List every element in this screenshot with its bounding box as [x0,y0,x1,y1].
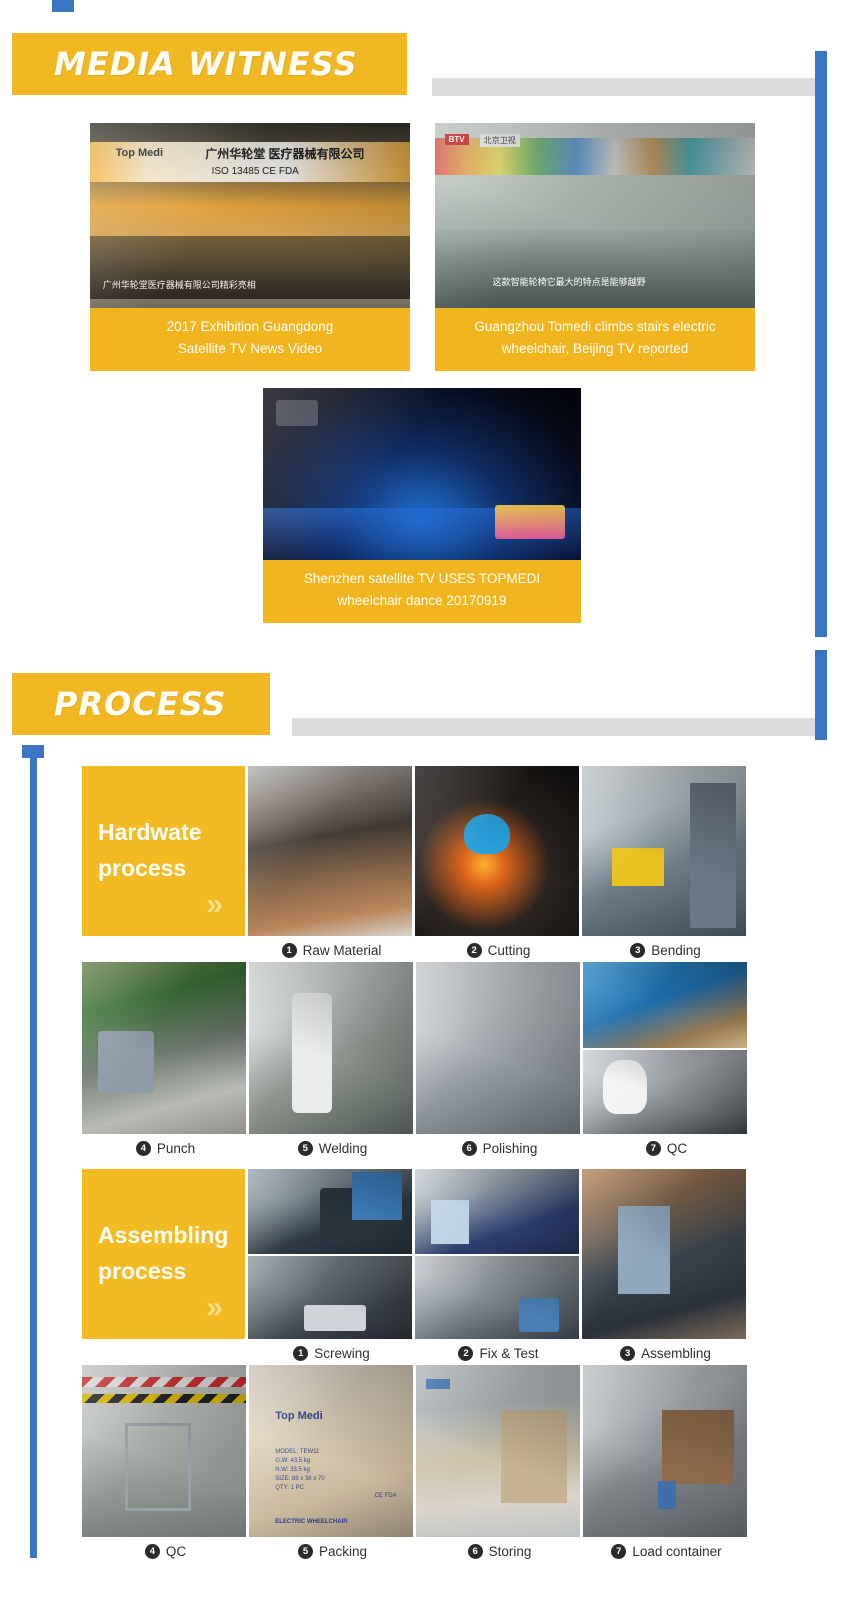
header-grey-bar [292,718,822,736]
process-photo[interactable] [582,766,746,936]
hardware-caption-row-2: 4 Punch 5 Welding 6 Polishing 7 QC [82,1136,750,1156]
process-step-caption: 3 Bending [582,938,749,958]
process-step-caption: 5 Welding [249,1136,416,1156]
process-photo-stack [583,962,747,1134]
hardware-title-line2: process [98,851,245,887]
media-caption: Shenzhen satellite TV USES TOPMEDI wheel… [263,560,581,623]
assembling-caption-row-1: 1 Screwing 2 Fix & Test 3 Assembling [82,1341,750,1361]
media-caption-line2: Satellite TV News Video [96,338,404,360]
channel-name-label: 北京卫视 [480,134,520,147]
step-label: Assembling [641,1346,711,1361]
media-caption-line1: Shenzhen satellite TV USES TOPMEDI [269,568,575,590]
process-photo[interactable] [248,1256,412,1339]
step-label: Bending [651,943,701,958]
process-photo[interactable] [415,1169,579,1254]
process-photo[interactable] [82,962,246,1134]
step-number: 2 [467,943,482,958]
media-witness-header: MEDIA WITNESS [0,28,853,98]
media-caption-line2: wheelchair dance 20170919 [269,590,575,612]
step-label: Cutting [488,943,531,958]
process-step-caption: 3 Assembling [582,1341,749,1361]
step-label: Storing [489,1544,532,1559]
process-left-rail [30,758,37,1558]
process-photo[interactable] [415,1256,579,1339]
step-label: Fix & Test [479,1346,538,1361]
hardware-caption-row-1: 1 Raw Material 2 Cutting 3 Bending [82,938,750,958]
step-number: 4 [145,1544,160,1559]
media-caption: Guangzhou Tomedi climbs stairs electric … [435,308,755,371]
process-photo[interactable] [248,766,412,936]
process-photo[interactable] [415,766,579,936]
hardware-title-line1: Hardwate [98,815,245,851]
process-step-caption: 2 Fix & Test [415,1341,582,1361]
media-witness-title: MEDIA WITNESS [12,33,407,95]
step-number: 7 [646,1141,661,1156]
booth-brand-label: Top Medi [116,147,163,159]
media-card[interactable]: Shenzhen satellite TV USES TOPMEDI wheel… [263,388,581,623]
process-step-caption: 7 Load container [583,1539,750,1559]
process-photo-stack [248,1169,412,1339]
step-number: 6 [462,1141,477,1156]
process-step-caption: 1 Screwing [248,1341,415,1361]
show-logo [495,505,565,539]
process-step-caption: 4 Punch [82,1136,249,1156]
carton-brand-label: Top Medi [275,1410,322,1422]
process-photo-stack [415,1169,579,1339]
process-photo[interactable] [249,962,413,1134]
process-step-caption: 1 Raw Material [248,938,415,958]
process-step-caption: 4 QC [82,1539,249,1559]
media-overlay-text: 广州华轮堂医疗器械有限公司精彩亮相 [103,278,256,291]
process-photo[interactable] [583,962,747,1048]
assembling-title-line1: Assembling [98,1218,245,1254]
step-number: 3 [630,943,645,958]
header-blue-tab [815,650,827,740]
step-number: 1 [282,943,297,958]
process-photo[interactable] [416,962,580,1134]
assembling-process-title: Assembling process » [82,1169,245,1339]
channel-badge: BTV [445,134,469,145]
process-photo[interactable] [416,1365,580,1537]
media-overlay-text: 这款智能轮椅它最大的特点是能够越野 [493,275,646,288]
process-photo[interactable] [582,1169,746,1339]
step-number: 1 [293,1346,308,1361]
chevron-right-icon: » [206,1293,223,1323]
step-number: 6 [468,1544,483,1559]
carton-certs-label: CE FDA [375,1493,397,1499]
media-caption-line1: 2017 Exhibition Guangdong [96,316,404,338]
booth-certs-label: ISO 13485 CE FDA [212,166,299,177]
process-photo[interactable] [248,1169,412,1254]
header-grey-bar [432,78,822,96]
carton-product-label: ELECTRIC WHEELCHAIR [275,1519,347,1525]
media-photo [263,388,581,560]
hardware-process-block: Hardwate process » 1 Raw Material 2 Cutt… [82,766,750,1156]
process-step-caption: 6 Polishing [416,1136,583,1156]
step-label: Packing [319,1544,367,1559]
decor-square-process [22,745,44,758]
process-step-caption: 5 Packing [249,1539,416,1559]
chevron-right-icon: » [206,890,223,920]
step-number: 5 [298,1141,313,1156]
media-caption: 2017 Exhibition Guangdong Satellite TV N… [90,308,410,371]
media-card[interactable]: BTV 北京卫视 这款智能轮椅它最大的特点是能够越野 Guangzhou Tom… [435,123,755,371]
assembling-caption-row-2: 4 QC 5 Packing 6 Storing 7 Load containe… [82,1539,750,1559]
media-photo: BTV 北京卫视 这款智能轮椅它最大的特点是能够越野 [435,123,755,308]
assembling-title-line2: process [98,1254,245,1290]
media-card[interactable]: Top Medi 广州华轮堂 医疗器械有限公司 ISO 13485 CE FDA… [90,123,410,371]
process-header: PROCESS [0,668,853,738]
media-caption-line2: wheelchair, Beijing TV reported [441,338,749,360]
decor-rail-right-top [815,77,827,637]
step-label: Raw Material [303,943,382,958]
step-number: 5 [298,1544,313,1559]
process-step-caption: 7 QC [583,1136,750,1156]
process-photo[interactable]: Top Medi MODEL: TEW11 G.W: 43.5 kg N.W: … [249,1365,413,1537]
process-photo[interactable] [583,1365,747,1537]
step-number: 7 [611,1544,626,1559]
step-label: Load container [632,1544,721,1559]
step-number: 4 [136,1141,151,1156]
media-caption-line1: Guangzhou Tomedi climbs stairs electric [441,316,749,338]
assembling-process-block: Assembling process » [82,1169,750,1559]
booth-chinese-label: 广州华轮堂 医疗器械有限公司 [205,145,364,162]
channel-logo [276,400,318,426]
process-photo[interactable] [82,1365,246,1537]
media-photo: Top Medi 广州华轮堂 医疗器械有限公司 ISO 13485 CE FDA… [90,123,410,308]
step-label: QC [667,1141,687,1156]
process-photo[interactable] [583,1050,747,1134]
decor-square-top [52,0,74,12]
step-label: Welding [319,1141,368,1156]
step-number: 3 [620,1346,635,1361]
carton-spec-label: MODEL: TEW11 G.W: 43.5 kg N.W: 33.5 kg S… [275,1448,324,1493]
step-label: Screwing [314,1346,370,1361]
process-title: PROCESS [12,673,270,735]
process-step-caption: 6 Storing [416,1539,583,1559]
step-number: 2 [458,1346,473,1361]
hardware-process-title: Hardwate process » [82,766,245,936]
step-label: Punch [157,1141,195,1156]
step-label: Polishing [483,1141,538,1156]
step-label: QC [166,1544,186,1559]
process-step-caption: 2 Cutting [415,938,582,958]
